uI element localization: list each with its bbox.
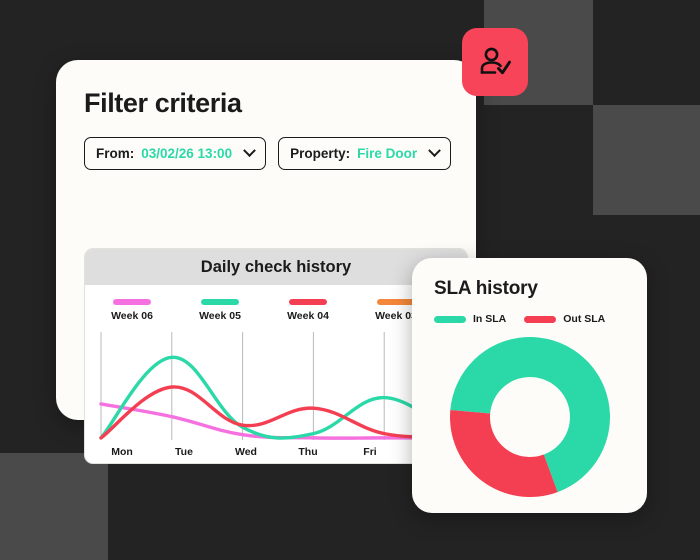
chevron-down-icon [243, 144, 256, 157]
property-dropdown[interactable]: Property: Fire Door [278, 137, 451, 170]
legend-label: Week 03 [375, 310, 417, 322]
daily-chart-plot-area [85, 328, 467, 450]
donut-slice-out-sla[interactable] [450, 410, 558, 497]
property-value: Fire Door [357, 146, 417, 161]
line-chart-svg [85, 328, 468, 450]
legend-item[interactable]: Out SLA [524, 313, 605, 325]
legend-label: Week 05 [199, 310, 241, 322]
chevron-down-icon [428, 144, 441, 157]
user-check-badge[interactable] [462, 28, 528, 96]
background-block-middle-right [593, 105, 700, 215]
legend-swatch-in-sla [434, 316, 466, 323]
sla-card-title: SLA history [412, 258, 647, 300]
legend-item[interactable]: In SLA [434, 313, 506, 325]
background-block-bottom-left [0, 453, 108, 560]
legend-swatch-week-04 [289, 299, 327, 305]
legend-swatch-week-05 [201, 299, 239, 305]
donut-chart-svg [446, 333, 614, 501]
daily-check-history-panel: Daily check history Week 06 Week 05 Week… [84, 248, 468, 464]
legend-item[interactable]: Week 06 [103, 299, 161, 322]
daily-chart-title: Daily check history [85, 249, 467, 285]
line-series-week-05 [101, 357, 455, 438]
daily-chart-legend: Week 06 Week 05 Week 04 Week 03 [85, 285, 467, 322]
line-series-week-06 [101, 404, 455, 438]
legend-label: In SLA [473, 313, 506, 325]
from-label: From: [96, 146, 134, 161]
legend-swatch-out-sla [524, 316, 556, 323]
from-value: 03/02/26 13:00 [141, 146, 232, 161]
legend-item[interactable]: Week 05 [191, 299, 249, 322]
donut-chart-container [412, 333, 647, 501]
sla-history-card: SLA history In SLA Out SLA [412, 258, 647, 513]
filter-controls-row: From: 03/02/26 13:00 Property: Fire Door [56, 119, 476, 170]
legend-item[interactable]: Week 04 [279, 299, 337, 322]
legend-swatch-week-06 [113, 299, 151, 305]
from-date-dropdown[interactable]: From: 03/02/26 13:00 [84, 137, 266, 170]
legend-label: Week 06 [111, 310, 153, 322]
sla-legend: In SLA Out SLA [412, 300, 647, 325]
legend-label: Week 04 [287, 310, 329, 322]
user-check-icon [477, 44, 513, 80]
page-title: Filter criteria [56, 60, 476, 119]
legend-swatch-week-03 [377, 299, 415, 305]
legend-label: Out SLA [563, 313, 605, 325]
property-label: Property: [290, 146, 350, 161]
